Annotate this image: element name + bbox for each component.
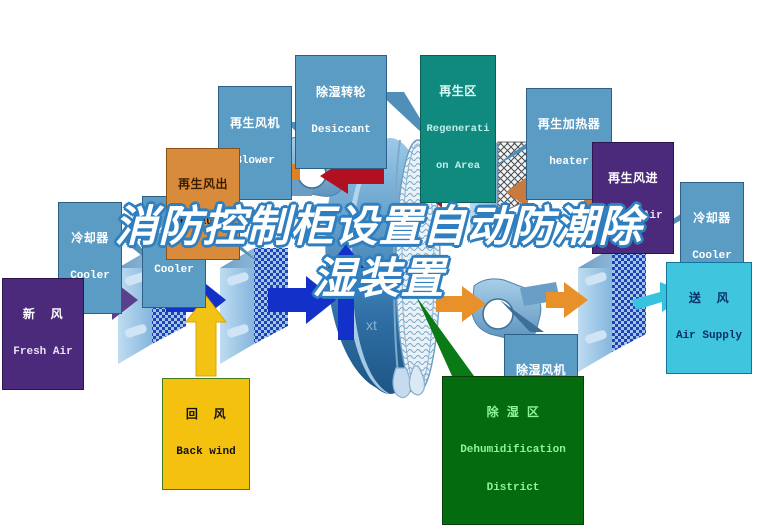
label-cooler-right-cn: 冷却器 [683,212,741,225]
label-regeneration-area-cn: 再生区 [423,85,493,98]
label-air-supply-en: Air Supply [669,331,749,343]
label-regeneration-area-en-l1: Regenerati [423,124,493,135]
label-desiccant-rotor-en: Desiccant [298,125,384,137]
label-regeneration-area[interactable]: 再生区 Regenerati on Area [420,55,496,203]
label-regen-exhaust-cn: 再生风出 [169,178,237,191]
label-cooler-mid-en: Cooler [145,265,203,277]
label-regen-fresh-air[interactable]: 再生风进 Fresh Air [592,142,674,254]
label-fresh-air-in-en: Fresh Air [5,347,81,359]
label-regen-exhaust[interactable]: 再生风出 Exhaust [166,148,240,260]
label-cooler-right-en: Cooler [683,251,741,263]
label-regen-blower-cn: 再生风机 [221,117,289,130]
label-dehum-district[interactable]: 除 湿 区 Dehumidification District [442,376,584,525]
label-back-wind[interactable]: 回 风 Back wind [162,378,250,490]
dehum-blower-graphic [472,279,560,340]
label-desiccant-rotor-cn: 除湿转轮 [298,86,384,99]
label-regen-heater-cn: 再生加热器 [529,118,609,131]
label-desiccant-rotor[interactable]: 除湿转轮 Desiccant [295,55,387,169]
label-air-supply[interactable]: 送 风 Air Supply [666,262,752,374]
label-regeneration-area-en-l2: on Area [423,161,493,172]
supply-coil-graphic [578,248,646,372]
label-dehum-district-cn: 除 湿 区 [445,406,581,419]
diagram-canvas: xt [0,0,757,488]
label-regen-exhaust-en: Exhaust [169,217,237,229]
label-fresh-air-in-cn: 新 风 [5,308,81,321]
label-dehum-district-en-l2: District [445,483,581,495]
label-dehum-district-en-l1: Dehumidification [445,445,581,457]
svg-text:xt: xt [366,317,377,333]
label-air-supply-cn: 送 风 [669,292,749,305]
label-regen-fresh-air-cn: 再生风进 [595,172,671,185]
label-fresh-air-in[interactable]: 新 风 Fresh Air [2,278,84,390]
label-dehum-blower-cn: 除湿风机 [507,364,575,377]
label-cooler-left-cn: 冷却器 [61,232,119,245]
label-regen-fresh-air-en: Fresh Air [595,211,671,223]
label-back-wind-cn: 回 风 [165,408,247,421]
label-back-wind-en: Back wind [165,447,247,459]
